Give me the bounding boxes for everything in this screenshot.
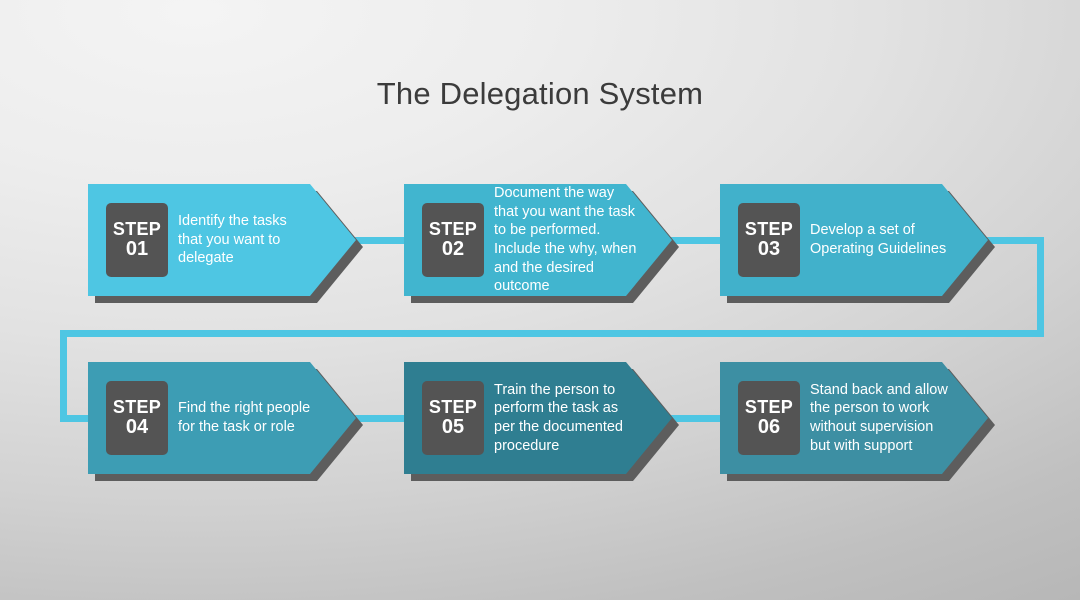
step-badge-word: STEP (429, 398, 477, 416)
connector-row-wrap-segment (60, 330, 1044, 337)
connector-left-down-segment (60, 330, 67, 422)
step-badge-number: 02 (442, 239, 464, 259)
step-badge: STEP 02 (422, 203, 484, 277)
step-badge-number: 05 (442, 417, 464, 437)
step-badge: STEP 05 (422, 381, 484, 455)
step-badge-number: 04 (126, 417, 148, 437)
step-badge: STEP 03 (738, 203, 800, 277)
step-badge: STEP 06 (738, 381, 800, 455)
step-card-02[interactable]: STEP 02 Document the way that you want t… (404, 184, 672, 296)
step-card-06[interactable]: STEP 06 Stand back and allow the person … (720, 362, 988, 474)
connector-step3-right-segment (984, 237, 1044, 244)
step-badge-number: 06 (758, 417, 780, 437)
step-description: Stand back and allow the person to work … (810, 381, 976, 455)
connector-right-down-segment (1037, 237, 1044, 337)
step-badge: STEP 01 (106, 203, 168, 277)
step-badge-word: STEP (745, 220, 793, 238)
step-description: Identify the tasks that you want to dele… (178, 212, 344, 268)
step-badge-word: STEP (429, 220, 477, 238)
step-badge-word: STEP (113, 220, 161, 238)
step-description: Train the person to perform the task as … (494, 381, 660, 455)
step-card-05[interactable]: STEP 05 Train the person to perform the … (404, 362, 672, 474)
step-card-04[interactable]: STEP 04 Find the right people for the ta… (88, 362, 356, 474)
step-description: Document the way that you want the task … (494, 184, 660, 295)
step-badge-word: STEP (113, 398, 161, 416)
step-description: Find the right people for the task or ro… (178, 399, 344, 436)
diagram-canvas: The Delegation System STEP 01 Identify t… (0, 0, 1080, 600)
page-title: The Delegation System (0, 76, 1080, 112)
step-badge-number: 03 (758, 239, 780, 259)
step-badge-number: 01 (126, 239, 148, 259)
step-badge: STEP 04 (106, 381, 168, 455)
step-card-03[interactable]: STEP 03 Develop a set of Operating Guide… (720, 184, 988, 296)
step-description: Develop a set of Operating Guidelines (810, 221, 976, 258)
step-badge-word: STEP (745, 398, 793, 416)
step-card-01[interactable]: STEP 01 Identify the tasks that you want… (88, 184, 356, 296)
